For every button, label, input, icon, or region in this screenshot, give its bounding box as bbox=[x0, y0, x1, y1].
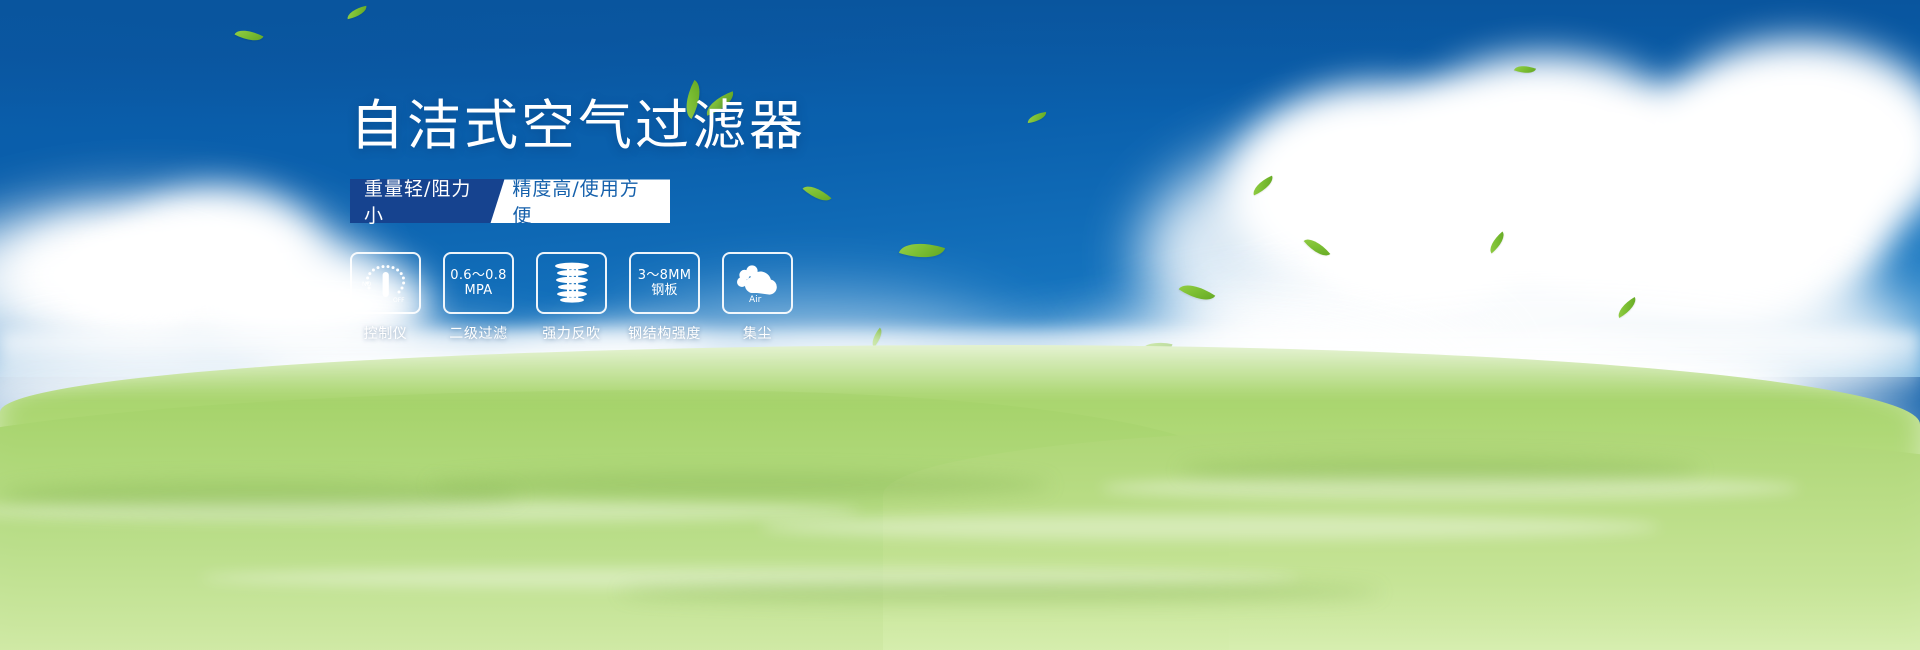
banner-content: 自洁式空气过滤器 重量轻/阻力小 精度高/使用方便 bbox=[350, 96, 1070, 343]
feature-icon-box: 0.6～0.8 MPA bbox=[443, 252, 514, 314]
feature-item-steel[interactable]: 3～8MM 钢板 钢结构强度 bbox=[629, 252, 700, 343]
feature-list: NO OFF 控制仪 0.6～0.8 MPA 二级过滤 bbox=[350, 252, 1070, 343]
feature-label: 二级过滤 bbox=[449, 323, 507, 343]
tagline-primary: 重量轻/阻力小 bbox=[350, 179, 504, 223]
cloud-air-icon: Air bbox=[733, 262, 783, 304]
feature-label: 控制仪 bbox=[364, 323, 408, 343]
gauge-controller-icon: NO OFF bbox=[360, 261, 412, 305]
feature-item-dust[interactable]: Air 集尘 bbox=[722, 252, 793, 343]
steel-value-line2: 钢板 bbox=[651, 283, 678, 299]
feature-label: 钢结构强度 bbox=[628, 323, 701, 343]
gauge-label-off: OFF bbox=[393, 297, 405, 304]
cloud-air-text: Air bbox=[749, 295, 762, 304]
feature-item-pressure[interactable]: 0.6～0.8 MPA 二级过滤 bbox=[443, 252, 514, 343]
tagline-secondary: 精度高/使用方便 bbox=[490, 179, 670, 223]
feature-icon-box: NO OFF bbox=[350, 252, 421, 314]
gauge-label-no: NO bbox=[362, 281, 371, 288]
feature-item-controller[interactable]: NO OFF 控制仪 bbox=[350, 252, 421, 343]
pressure-value-line1: 0.6～0.8 bbox=[450, 268, 506, 284]
feature-icon-box: Air bbox=[722, 252, 793, 314]
feature-item-backblow[interactable]: 强力反吹 bbox=[536, 252, 607, 343]
feature-label: 强力反吹 bbox=[542, 323, 600, 343]
feature-icon-box: 3～8MM 钢板 bbox=[629, 252, 700, 314]
steel-value-line1: 3～8MM bbox=[638, 268, 691, 284]
hero-banner: 自洁式空气过滤器 重量轻/阻力小 精度高/使用方便 bbox=[0, 0, 1920, 650]
tagline-group: 重量轻/阻力小 精度高/使用方便 bbox=[350, 179, 670, 223]
feature-label: 集尘 bbox=[743, 323, 772, 343]
pleated-filter-icon bbox=[549, 260, 595, 306]
pressure-value-line2: MPA bbox=[464, 283, 492, 299]
feature-icon-box bbox=[536, 252, 607, 314]
page-title: 自洁式空气过滤器 bbox=[350, 96, 1070, 156]
